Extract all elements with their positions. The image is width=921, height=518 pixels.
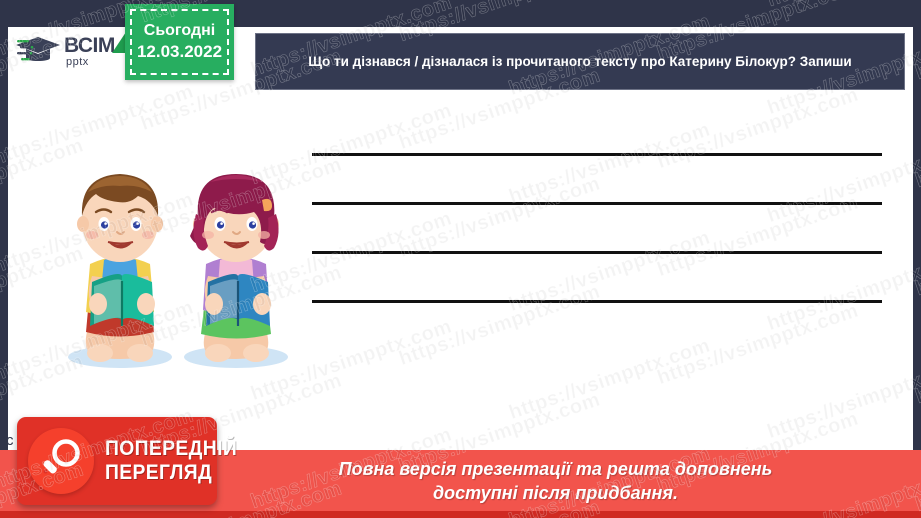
date-badge-label: Сьогодні xyxy=(144,21,215,41)
magnifier-icon xyxy=(28,428,94,494)
preview-badge: ПОПЕРЕДНІЙ ПЕРЕГЛЯД xyxy=(17,417,217,505)
purchase-banner-line1: Повна версія презентації та решта доповн… xyxy=(339,458,773,481)
question-bar: Що ти дізнався / дізналася із прочитаног… xyxy=(255,33,905,90)
obscured-text: с xyxy=(6,432,14,449)
brand-logo: ВСІМ pptx xyxy=(16,30,124,72)
date-badge: Сьогодні 12.03.2022 xyxy=(125,4,234,80)
date-badge-value: 12.03.2022 xyxy=(137,41,222,63)
slide-root: https://vsimpptx.comhttps://vsimpptx.com… xyxy=(0,0,921,518)
logo-title: ВСІМ xyxy=(64,35,115,56)
children-reading-illustration xyxy=(48,152,318,377)
answer-line xyxy=(312,300,882,303)
graduation-cap-icon xyxy=(16,31,62,71)
question-text: Що ти дізнався / дізналася із прочитаног… xyxy=(308,52,851,72)
preview-badge-line1: ПОПЕРЕДНІЙ xyxy=(105,437,237,461)
logo-subtitle: pptx xyxy=(66,57,115,68)
answer-lines xyxy=(312,153,882,349)
answer-line xyxy=(312,251,882,254)
purchase-banner-line2: доступні після придбання. xyxy=(339,482,773,505)
answer-line xyxy=(312,153,882,156)
answer-line xyxy=(312,202,882,205)
preview-badge-line2: ПЕРЕГЛЯД xyxy=(105,461,237,485)
